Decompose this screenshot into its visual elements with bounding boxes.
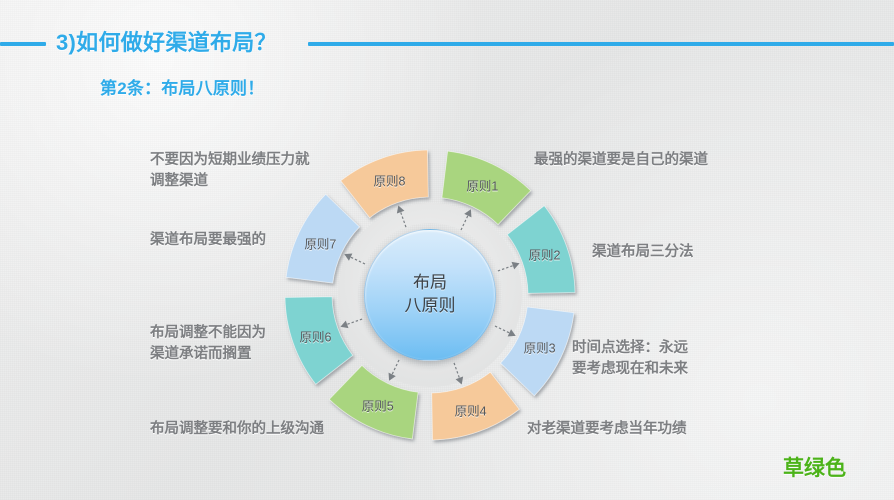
page-subtitle: 第2条：布局八原则！ <box>100 74 264 99</box>
callout-principle-3: 时间点选择：永远 要考虑现在和未来 <box>572 338 802 380</box>
page-title: 3)如何做好渠道布局？ <box>56 26 306 60</box>
header-rule-right <box>308 42 894 46</box>
center-label: 布局 八原则 <box>405 272 456 318</box>
callout-principle-2: 渠道布局三分法 <box>592 242 822 263</box>
center-circle: 布局 八原则 <box>364 229 496 361</box>
header-rule-left <box>0 42 46 46</box>
watermark-label: 草绿色 <box>783 452 846 482</box>
slide-header: 3)如何做好渠道布局？ <box>0 26 894 60</box>
